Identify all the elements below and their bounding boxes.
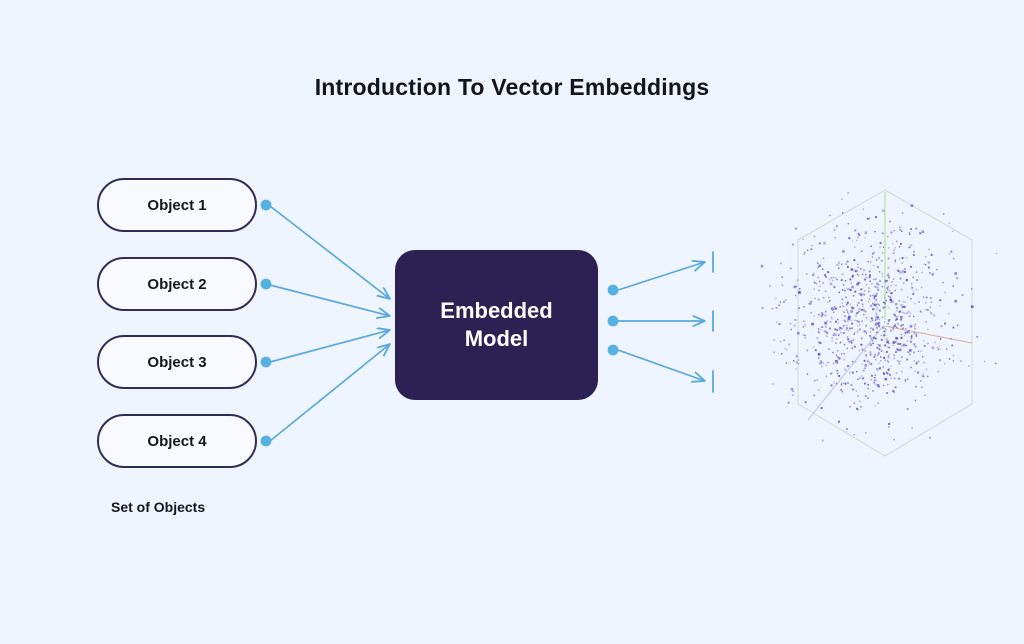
output-arrow-1 <box>618 262 705 290</box>
connector-dot-object-4 <box>261 436 272 447</box>
input-connector-dots <box>261 200 272 447</box>
output-connector-dots <box>608 285 619 356</box>
embedded-model-label-line2: Model <box>465 326 529 351</box>
object-pill-2-label: Object 2 <box>147 276 206 293</box>
object-pill-3-label: Object 3 <box>147 354 206 371</box>
embedded-model-label: Embedded Model <box>440 297 552 353</box>
object-pill-1-label: Object 1 <box>147 197 206 214</box>
connector-dot-output-3 <box>608 345 619 356</box>
object-pill-4-label: Object 4 <box>147 433 206 450</box>
object-pill-4[interactable]: Object 4 <box>97 414 257 468</box>
connector-dot-object-3 <box>261 357 272 368</box>
object-pill-3[interactable]: Object 3 <box>97 335 257 389</box>
page-title: Introduction To Vector Embeddings <box>0 74 1024 101</box>
connector-dot-output-2 <box>608 316 619 327</box>
set-of-objects-label: Set of Objects <box>111 499 205 515</box>
axis-z-blue <box>808 326 883 420</box>
connector-dot-object-1 <box>261 200 272 211</box>
connector-dot-output-1 <box>608 285 619 296</box>
connector-dot-object-2 <box>261 279 272 290</box>
object-pill-2[interactable]: Object 2 <box>97 257 257 311</box>
embedded-model-label-line1: Embedded <box>440 298 552 323</box>
input-arrow-2 <box>270 285 390 316</box>
output-arrow-3 <box>618 350 705 381</box>
input-arrow-1 <box>270 206 390 299</box>
embedding-points <box>761 192 997 441</box>
output-arrows <box>618 262 705 381</box>
diagram-canvas: Introduction To Vector Embeddings Object… <box>0 0 1024 644</box>
object-pill-1[interactable]: Object 1 <box>97 178 257 232</box>
input-arrows <box>270 206 390 441</box>
hexagon-outline <box>798 190 972 456</box>
input-arrow-4 <box>270 344 390 441</box>
embedded-model-box[interactable]: Embedded Model <box>395 250 598 400</box>
axis-x-red <box>885 326 972 343</box>
input-arrow-3 <box>270 330 390 362</box>
